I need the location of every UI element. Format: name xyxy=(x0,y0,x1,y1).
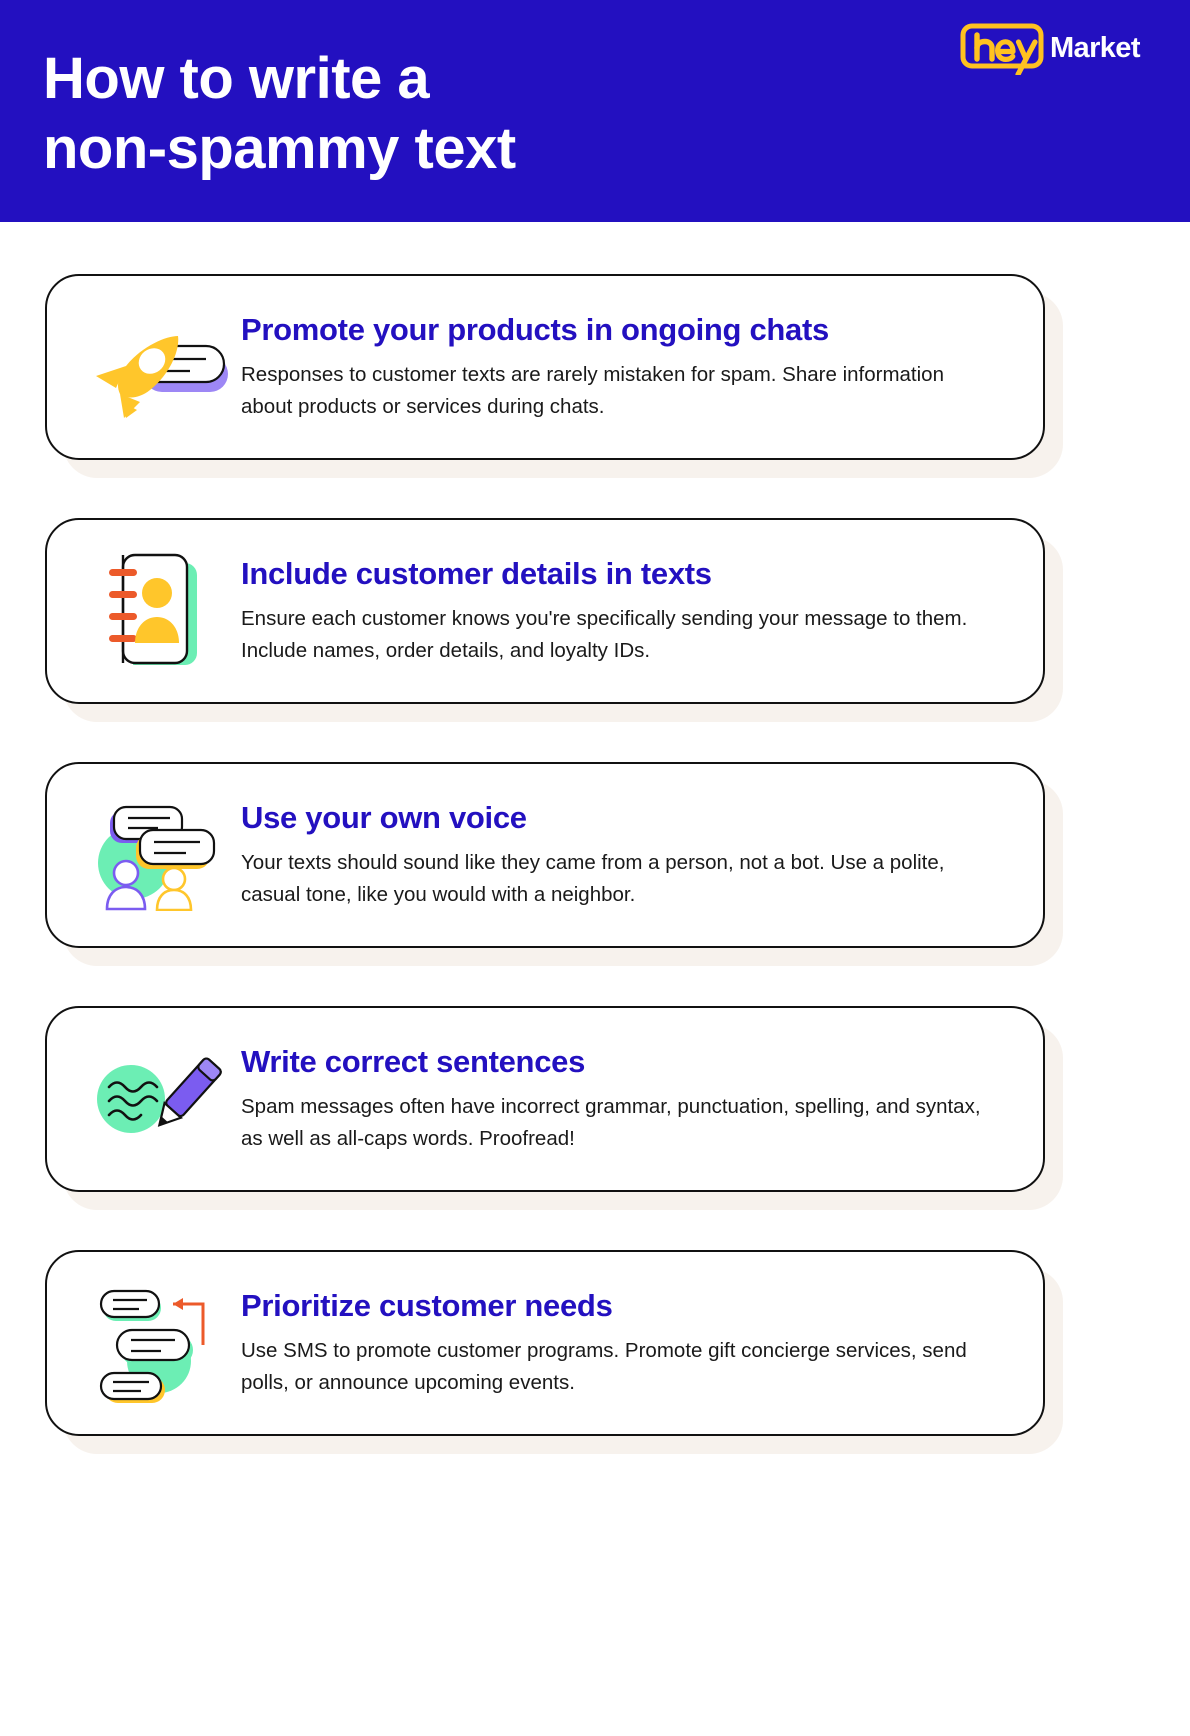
message-flow-icon xyxy=(73,1278,241,1408)
card-body: Prioritize customer needs Use SMS to pro… xyxy=(241,1288,1013,1399)
card-text: Spam messages often have incorrect gramm… xyxy=(241,1091,999,1155)
card-body: Use your own voice Your texts should sou… xyxy=(241,800,1013,911)
tip-card: Write correct sentences Spam messages of… xyxy=(45,1006,1045,1192)
infographic-page: How to write a non-spammy text Market xyxy=(0,0,1190,1736)
tip-card: Promote your products in ongoing chats R… xyxy=(45,274,1045,460)
svg-text:Market: Market xyxy=(1050,32,1141,64)
card-text: Your texts should sound like they came f… xyxy=(241,847,999,911)
card-heading: Promote your products in ongoing chats xyxy=(241,312,999,348)
tip-card-5: Prioritize customer needs Use SMS to pro… xyxy=(45,1250,1045,1436)
pencil-scribble-icon xyxy=(73,1034,241,1164)
tips-card-list: Promote your products in ongoing chats R… xyxy=(0,222,1190,1436)
tip-card-2: Include customer details in texts Ensure… xyxy=(45,518,1045,704)
card-text: Responses to customer texts are rarely m… xyxy=(241,359,999,423)
rocket-icon xyxy=(73,302,241,432)
chat-people-icon xyxy=(73,790,241,920)
tip-card: Prioritize customer needs Use SMS to pro… xyxy=(45,1250,1045,1436)
card-text: Use SMS to promote customer programs. Pr… xyxy=(241,1335,999,1399)
card-heading: Include customer details in texts xyxy=(241,556,999,592)
tip-card-1: Promote your products in ongoing chats R… xyxy=(45,274,1045,460)
card-text: Ensure each customer knows you're specif… xyxy=(241,603,999,667)
card-body: Write correct sentences Spam messages of… xyxy=(241,1044,1013,1155)
tip-card-4: Write correct sentences Spam messages of… xyxy=(45,1006,1045,1192)
tip-card-3: Use your own voice Your texts should sou… xyxy=(45,762,1045,948)
address-book-icon xyxy=(73,546,241,676)
page-title: How to write a non-spammy text xyxy=(43,44,516,184)
card-heading: Use your own voice xyxy=(241,800,999,836)
tip-card: Use your own voice Your texts should sou… xyxy=(45,762,1045,948)
heymarket-logo: Market xyxy=(960,26,1146,72)
card-heading: Write correct sentences xyxy=(241,1044,999,1080)
tip-card: Include customer details in texts Ensure… xyxy=(45,518,1045,704)
header-banner: How to write a non-spammy text Market xyxy=(0,0,1190,222)
card-body: Promote your products in ongoing chats R… xyxy=(241,312,1013,423)
card-heading: Prioritize customer needs xyxy=(241,1288,999,1324)
card-body: Include customer details in texts Ensure… xyxy=(241,556,1013,667)
